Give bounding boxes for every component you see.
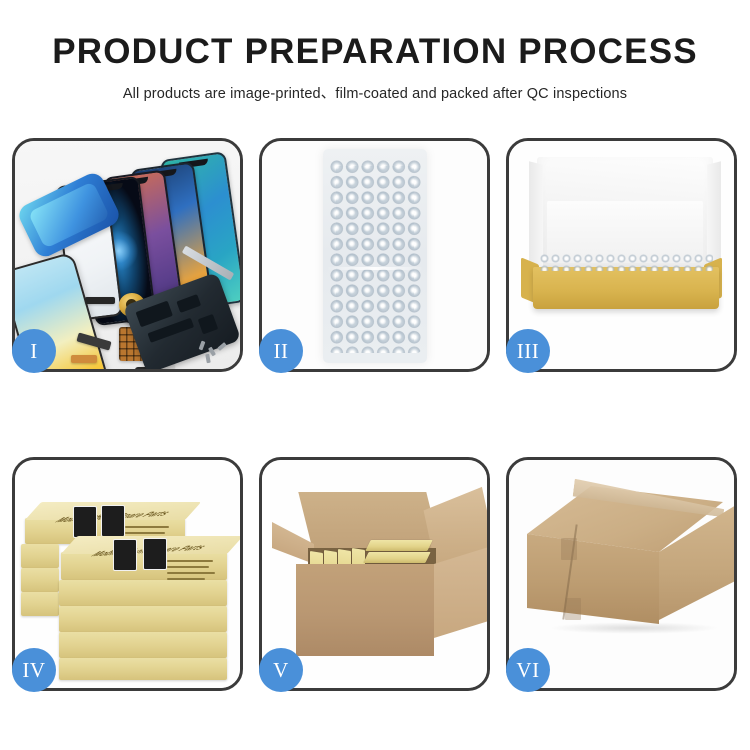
retail-box-stack-layer-7 bbox=[59, 658, 227, 680]
box-screen-graphic-4 bbox=[143, 538, 167, 570]
bubble-wrap-bag bbox=[323, 149, 427, 363]
bubble-wrap-texture-overlay bbox=[336, 166, 414, 346]
step-badge-6: VI bbox=[506, 648, 550, 692]
carton-tab-upper bbox=[561, 538, 577, 560]
box-screen-graphic-1 bbox=[73, 506, 97, 538]
step-panel-3[interactable]: III bbox=[506, 138, 737, 372]
page-subtitle: All products are image-printed、film-coat… bbox=[0, 82, 750, 103]
retail-box-stack-layer-1 bbox=[21, 544, 59, 568]
retail-box-top-front: Mobile Phone Spare Parts bbox=[61, 552, 227, 580]
packed-box-6 bbox=[363, 552, 430, 563]
step-panel-4[interactable]: Mobile Phone Spare Parts bbox=[12, 457, 243, 691]
process-steps-grid: I II III bbox=[12, 138, 738, 691]
step-badge-4: IV bbox=[12, 648, 56, 692]
page-title: PRODUCT PREPARATION PROCESS bbox=[0, 34, 750, 71]
step-panel-5[interactable]: V bbox=[259, 457, 490, 691]
carton-front-panel bbox=[296, 564, 434, 656]
carton-tab-lower bbox=[565, 598, 581, 620]
retail-box-stack-layer-3 bbox=[21, 592, 59, 616]
earpiece-part bbox=[85, 297, 115, 304]
retail-box-stack-layer-4 bbox=[59, 580, 227, 606]
step-badge-3: III bbox=[506, 329, 550, 373]
step-badge-1: I bbox=[12, 329, 56, 373]
retail-box-stack-layer-2 bbox=[21, 568, 59, 592]
box-screen-graphic-3 bbox=[113, 539, 137, 571]
retail-box-stack-layer-5 bbox=[59, 606, 227, 632]
screws-group bbox=[200, 341, 230, 363]
step-badge-5: V bbox=[259, 648, 303, 692]
kraft-inner-box bbox=[533, 267, 719, 309]
flex-cable-part-b bbox=[71, 355, 97, 363]
page-header: PRODUCT PREPARATION PROCESS All products… bbox=[0, 0, 750, 103]
box-screen-graphic-2 bbox=[101, 505, 125, 537]
bubble-wrap-seam bbox=[327, 267, 423, 270]
step-panel-1[interactable]: I bbox=[12, 138, 243, 372]
retail-box-stack-layer-6 bbox=[59, 632, 227, 658]
step-panel-2[interactable]: II bbox=[259, 138, 490, 372]
step-panel-6[interactable]: VI bbox=[506, 457, 737, 691]
step-badge-2: II bbox=[259, 329, 303, 373]
packed-box-5 bbox=[365, 540, 432, 551]
carton-ground-shadow bbox=[549, 622, 719, 634]
